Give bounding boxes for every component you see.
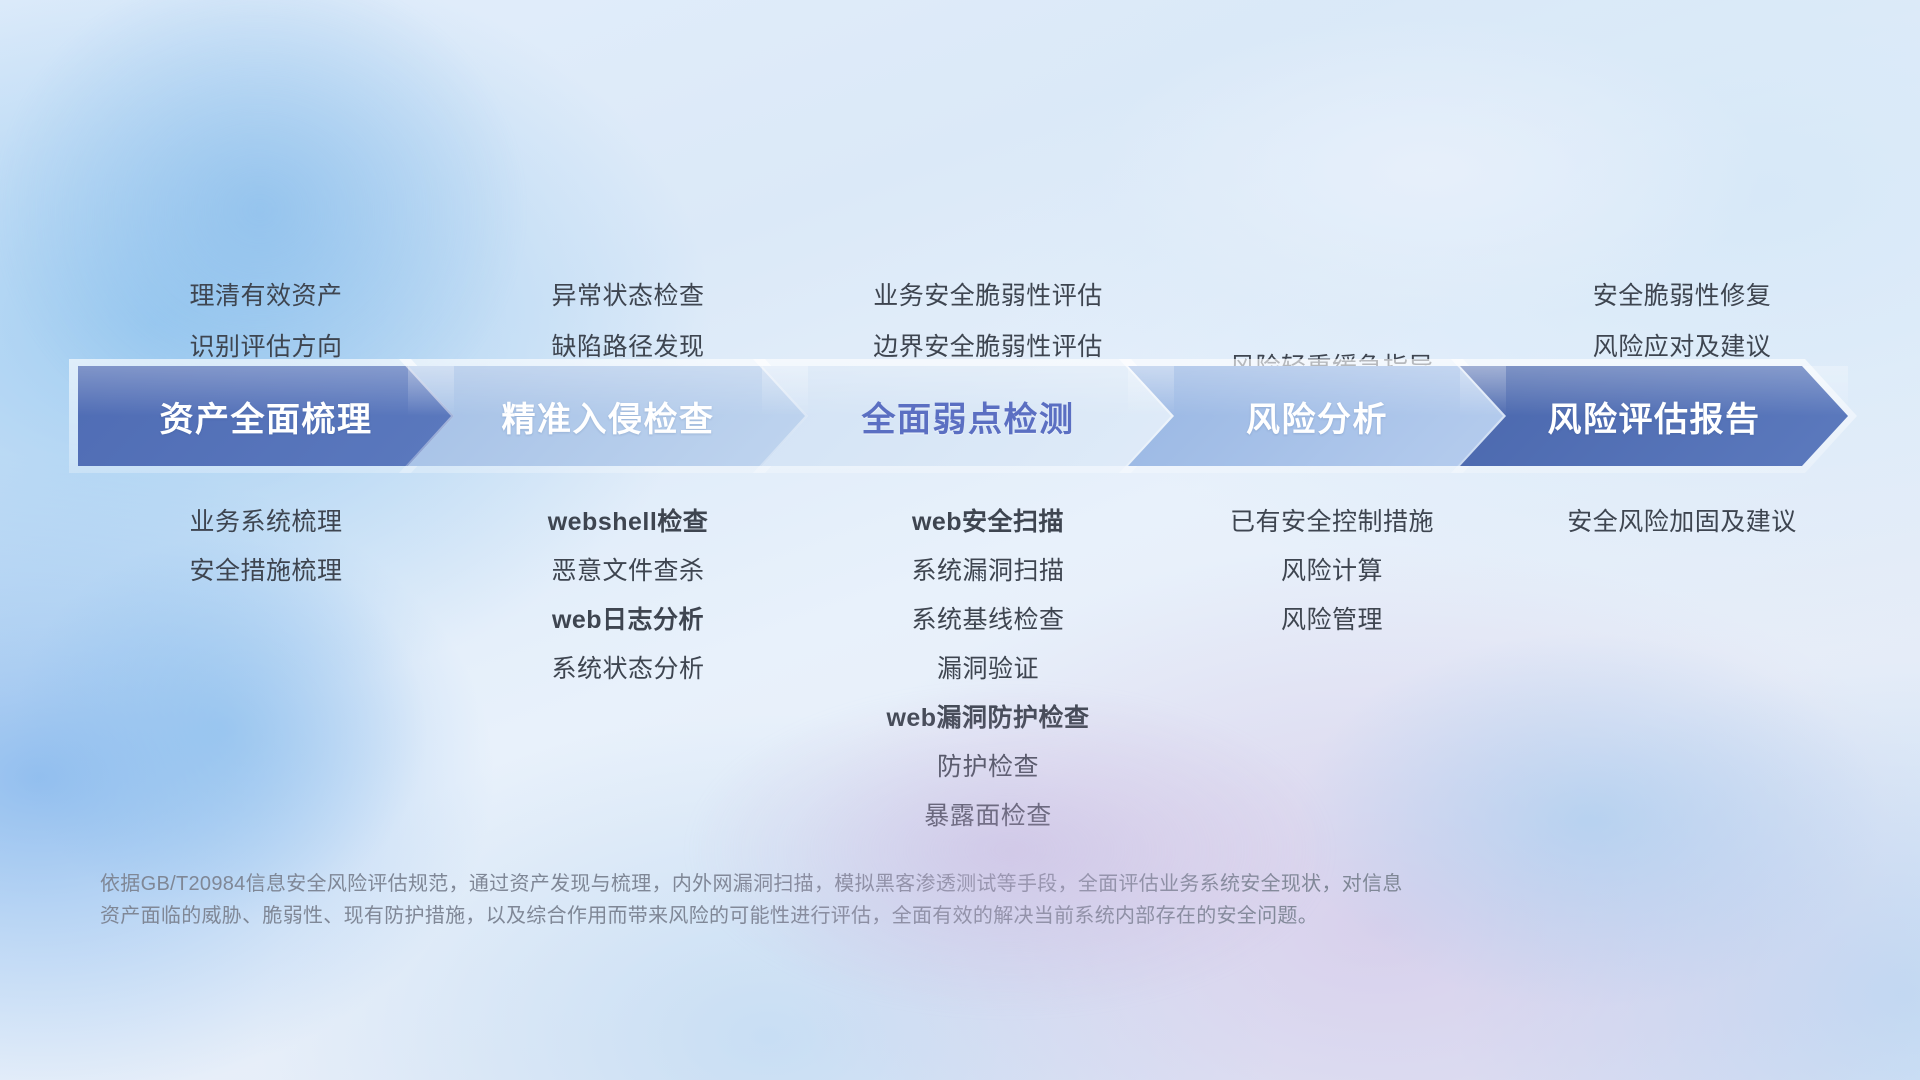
chevron-step-risk-report[interactable]: 风险评估报告 <box>1460 366 1848 466</box>
footer-line-2: 资产面临的威胁、脆弱性、现有防护措施，以及综合作用而带来风险的可能性进行评估，全… <box>100 900 1660 932</box>
chevron-label: 风险评估报告 <box>1548 392 1761 441</box>
slide-canvas: 理清有效资产 识别评估方向 业务系统梳理 安全措施梳理 异常状态检查 缺陷路径发… <box>0 0 1920 1080</box>
bottom-list-intrusion-check: webshell检查 恶意文件查杀 web日志分析 系统状态分析 <box>452 510 804 682</box>
top-item: 风险应对及建议 <box>1492 335 1872 360</box>
bottom-item: 防护检查 <box>804 755 1172 780</box>
top-list-intrusion-check: 异常状态检查 缺陷路径发现 <box>452 284 804 360</box>
bottom-list-risk-analysis: 已有安全控制措施 风险计算 风险管理 <box>1172 510 1492 633</box>
chevron-step-intrusion-check[interactable]: 精准入侵检查 <box>408 366 808 466</box>
bottom-list-weakness-detection: web安全扫描 系统漏洞扫描 系统基线检查 漏洞验证 web漏洞防护检查 防护检… <box>804 510 1172 829</box>
bottom-item: 系统漏洞扫描 <box>804 559 1172 584</box>
bottom-item: 系统状态分析 <box>452 657 804 682</box>
bottom-item: 业务系统梳理 <box>80 510 452 535</box>
top-item: 边界安全脆弱性评估 <box>804 335 1172 360</box>
top-list-asset-inventory: 理清有效资产 识别评估方向 <box>80 284 452 360</box>
top-list-weakness-detection: 业务安全脆弱性评估 边界安全脆弱性评估 <box>804 284 1172 360</box>
top-item: 业务安全脆弱性评估 <box>804 284 1172 309</box>
top-item: 异常状态检查 <box>452 284 804 309</box>
bottom-item: 风险计算 <box>1172 559 1492 584</box>
chevron-step-weakness-detection[interactable]: 全面弱点检测 <box>762 366 1174 466</box>
chevron-step-risk-analysis[interactable]: 风险分析 <box>1128 366 1506 466</box>
top-item: 安全脆弱性修复 <box>1492 284 1872 309</box>
top-list-risk-report: 安全脆弱性修复 风险应对及建议 <box>1492 284 1872 360</box>
bottom-list-asset-inventory: 业务系统梳理 安全措施梳理 <box>80 510 452 584</box>
bottom-item: web安全扫描 <box>804 510 1172 535</box>
process-chevron-band: 资产全面梳理 精准入侵检查 全面弱点检测 风险分析 风险评估报告 <box>78 366 1848 466</box>
top-item: 识别评估方向 <box>80 335 452 360</box>
footer-line-1: 依据GB/T20984信息安全风险评估规范，通过资产发现与梳理，内外网漏洞扫描，… <box>100 868 1660 900</box>
bottom-item: 风险管理 <box>1172 608 1492 633</box>
chevron-label: 资产全面梳理 <box>160 392 373 441</box>
bottom-item: webshell检查 <box>452 510 804 535</box>
chevron-label: 全面弱点检测 <box>862 392 1075 441</box>
bottom-item: 安全风险加固及建议 <box>1492 510 1872 535</box>
bottom-item: 恶意文件查杀 <box>452 559 804 584</box>
chevron-label: 精准入侵检查 <box>502 392 715 441</box>
bottom-list-risk-report: 安全风险加固及建议 <box>1492 510 1872 535</box>
top-item: 理清有效资产 <box>80 284 452 309</box>
bottom-item: 漏洞验证 <box>804 657 1172 682</box>
chevron-step-asset-inventory[interactable]: 资产全面梳理 <box>78 366 454 466</box>
bottom-item: web日志分析 <box>452 608 804 633</box>
bottom-item: 系统基线检查 <box>804 608 1172 633</box>
bottom-item: 暴露面检查 <box>804 804 1172 829</box>
bottom-item: 已有安全控制措施 <box>1172 510 1492 535</box>
top-item: 缺陷路径发现 <box>452 335 804 360</box>
chevron-label: 风险分析 <box>1246 392 1388 441</box>
footer-description: 依据GB/T20984信息安全风险评估规范，通过资产发现与梳理，内外网漏洞扫描，… <box>100 868 1660 933</box>
bottom-item: 安全措施梳理 <box>80 559 452 584</box>
bottom-item: web漏洞防护检查 <box>804 706 1172 731</box>
